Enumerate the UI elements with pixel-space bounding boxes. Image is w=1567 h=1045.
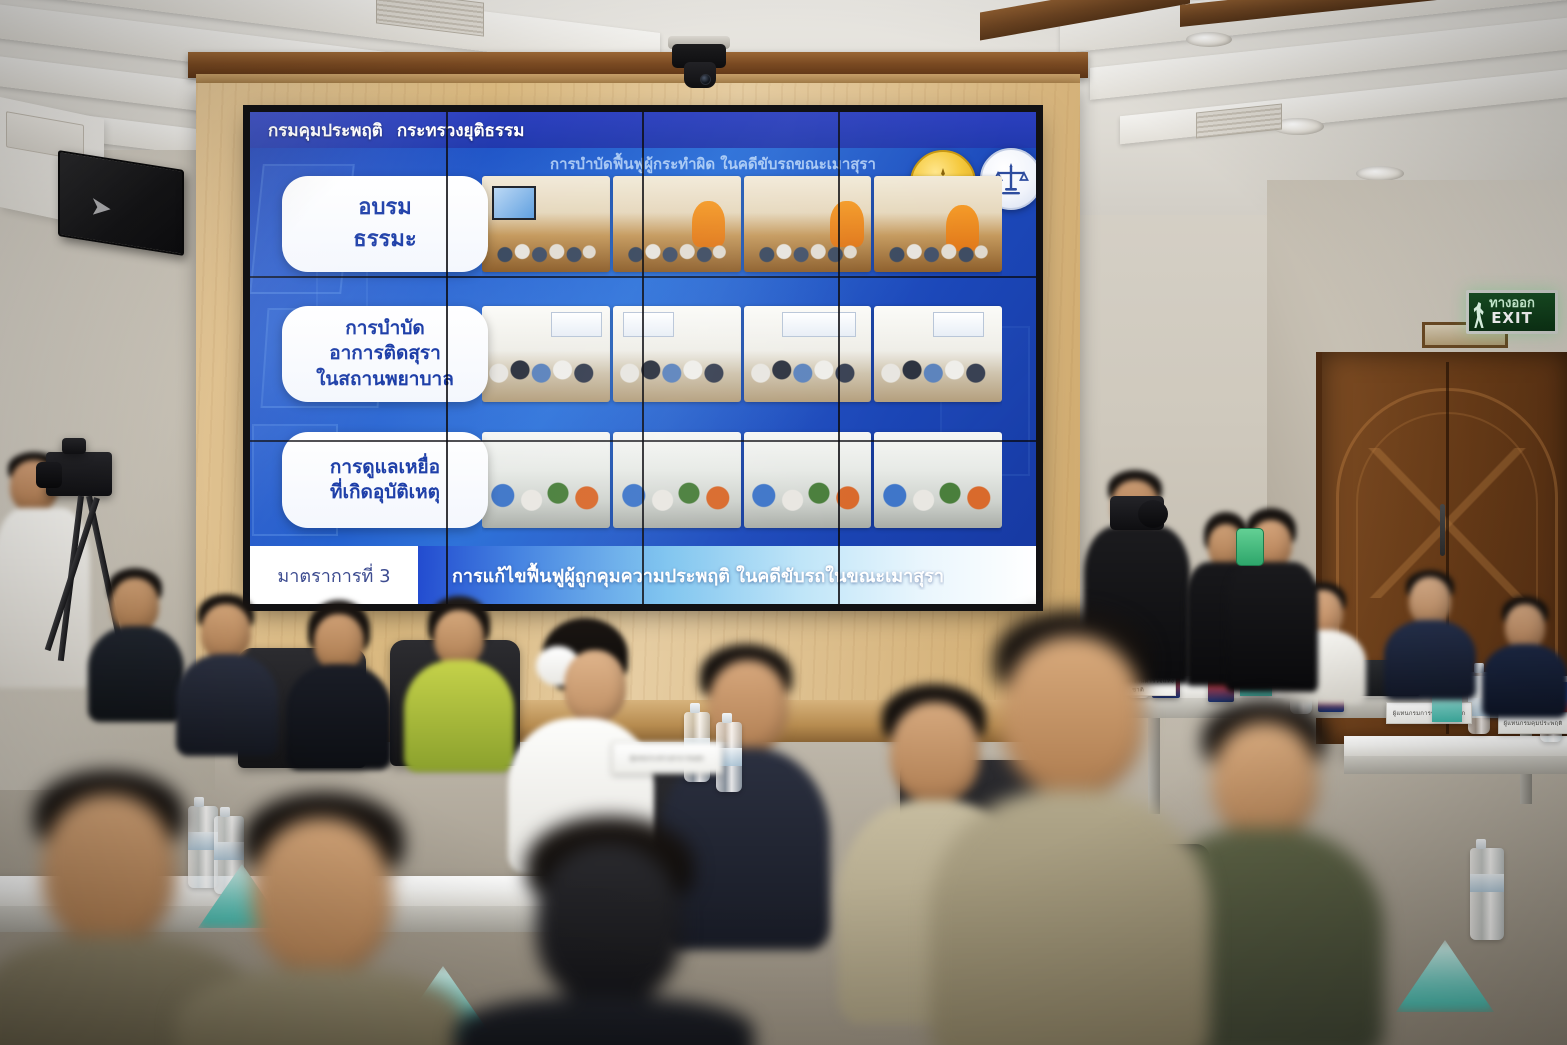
slide-photo — [613, 176, 741, 272]
video-wall-seam — [250, 276, 1036, 278]
ptz-camera-head — [684, 62, 716, 88]
exit-sign-english-label: EXIT — [1491, 310, 1533, 327]
nameplate-text: ผู้แทนกระทรวงสาธารณสุข — [630, 754, 703, 763]
slide-photo — [744, 176, 872, 272]
slide-photo — [744, 306, 872, 402]
water-bottle[interactable] — [1470, 848, 1504, 940]
row-photo-strip — [482, 298, 1002, 410]
row-label-card: การดูแลเหยื่อ ที่เกิดอุบัติเหตุ — [282, 432, 488, 528]
video-camera-viewfinder — [62, 438, 86, 454]
slide-measure-label: มาตราการที่ 3 — [277, 561, 390, 590]
slide-measure-title: การแก้ไขฟื้นฟูผู้ถูกคุมความประพฤติ ในคดี… — [452, 561, 944, 590]
video-wall-seam — [838, 112, 840, 604]
table-nameplate: ผู้แทนกระทรวงสาธารณสุข — [612, 742, 722, 774]
conference-room-scene: ➤ ทางออก EXIT ขั — [0, 0, 1567, 1045]
slide-header-org: กรมคุมประพฤติ — [268, 117, 383, 144]
slide-photo — [482, 176, 610, 272]
foreground-official — [454, 816, 754, 1045]
speaker-brand-logo: ➤ — [90, 191, 110, 224]
row-label-line: อาการติดสุรา — [329, 341, 441, 366]
attendee-person — [1482, 596, 1567, 716]
foreground-attendee — [930, 610, 1210, 1045]
row-label-card: อบรม ธรรมะ — [282, 176, 488, 272]
row-label-line: ในสถานพยาบาล — [316, 367, 454, 392]
row-label-line: ที่เกิดอุบัติเหตุ — [330, 480, 440, 505]
slide-photo — [874, 306, 1002, 402]
slide-photo — [482, 432, 610, 528]
row-label-line: อบรม — [358, 192, 412, 224]
running-man-icon — [1473, 302, 1486, 328]
row-label-line: ธรรมะ — [353, 224, 416, 256]
attendee-person — [286, 600, 392, 768]
ceiling-downlight — [1356, 166, 1404, 181]
ceiling-downlight — [1186, 32, 1232, 47]
row-label-line: การบำบัด — [345, 316, 425, 341]
row-photo-strip — [482, 168, 1002, 280]
slide-photo — [744, 432, 872, 528]
video-wall-seam — [446, 112, 448, 604]
slide-photo — [874, 432, 1002, 528]
video-wall-display[interactable]: ขับเปลี่ยน กรมคุมประพฤติ กระทรวงยุติธรรม… — [250, 112, 1036, 604]
slide-photo — [613, 306, 741, 402]
row-label-card: การบำบัด อาการติดสุรา ในสถานพยาบาล — [282, 306, 488, 402]
camera-lens-icon — [700, 74, 711, 85]
attendee-person — [1384, 570, 1476, 698]
video-wall-seam — [250, 440, 1036, 442]
exit-sign: ทางออก EXIT — [1466, 290, 1558, 334]
camera-lens-icon — [1138, 500, 1168, 528]
door-handle[interactable] — [1440, 504, 1445, 556]
slide-photo — [482, 306, 610, 402]
attendee-person — [404, 596, 514, 770]
slide-photo — [874, 176, 1002, 272]
attendee-person — [88, 568, 184, 718]
video-camera-lens — [36, 462, 62, 488]
slide-photo — [613, 432, 741, 528]
smartphone[interactable] — [1236, 528, 1264, 566]
video-wall-seam — [642, 112, 644, 604]
attendee-person — [176, 594, 278, 754]
slide-header-ministry: กระทรวงยุติธรรม — [397, 117, 525, 144]
row-label-line: การดูแลเหยื่อ — [330, 455, 440, 480]
nameplate-text: ผู้แทนกรมคุมประพฤติ — [1504, 719, 1563, 728]
foreground-official — [176, 792, 466, 1045]
